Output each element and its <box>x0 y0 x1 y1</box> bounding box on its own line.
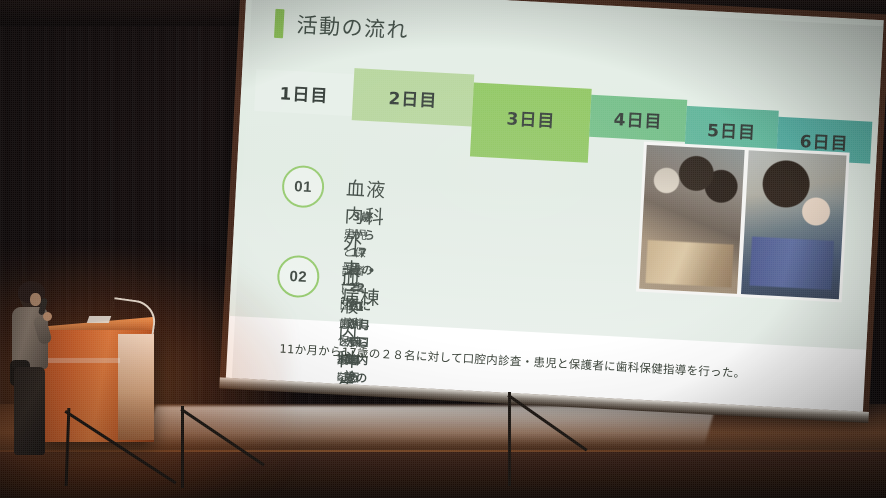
photo-dental-examination-group <box>639 145 745 294</box>
podium-papers <box>87 316 112 323</box>
page-title: 活動の流れ <box>296 9 410 45</box>
timeline-label: 2日目 <box>388 84 438 112</box>
auditorium-scene: 活動の流れ 1日目 2日目 3日目 4日目 5日目 <box>0 0 886 498</box>
podium-edge-highlight <box>42 358 120 363</box>
stage-front-face <box>0 452 886 498</box>
photo-shading <box>741 150 847 299</box>
photo-dental-examination-infant <box>741 150 847 299</box>
slide-content: 活動の流れ 1日目 2日目 3日目 4日目 5日目 <box>226 0 884 412</box>
timeline-label: 3日目 <box>506 104 556 132</box>
stage-handrail-post <box>508 392 511 486</box>
presenter-hand <box>43 312 52 321</box>
title-accent-bar <box>274 8 285 37</box>
timeline-label: 4日目 <box>613 105 663 133</box>
timeline-block-2: 2日目 <box>352 68 475 126</box>
projection-screen: 活動の流れ 1日目 2日目 3日目 4日目 5日目 <box>219 0 886 434</box>
timeline-label: 1日目 <box>279 79 329 107</box>
timeline-block-4: 4日目 <box>589 95 687 142</box>
podium-side-panel <box>118 334 154 440</box>
timeline-label: 5日目 <box>707 116 757 144</box>
photo-pair <box>636 142 850 303</box>
item-number: 02 <box>289 268 308 286</box>
item-number: 01 <box>294 178 313 196</box>
item-body-line-2: 患児と保護者に個別で歯科保健指導を行った。 <box>329 316 363 412</box>
photo-shading <box>639 145 745 294</box>
stage-handrail-post <box>181 406 184 488</box>
timeline-block-3: 3日目 <box>470 83 592 163</box>
timeline-block-1: 1日目 <box>254 69 354 116</box>
presenter <box>10 284 52 456</box>
presenter-legs <box>14 367 45 455</box>
